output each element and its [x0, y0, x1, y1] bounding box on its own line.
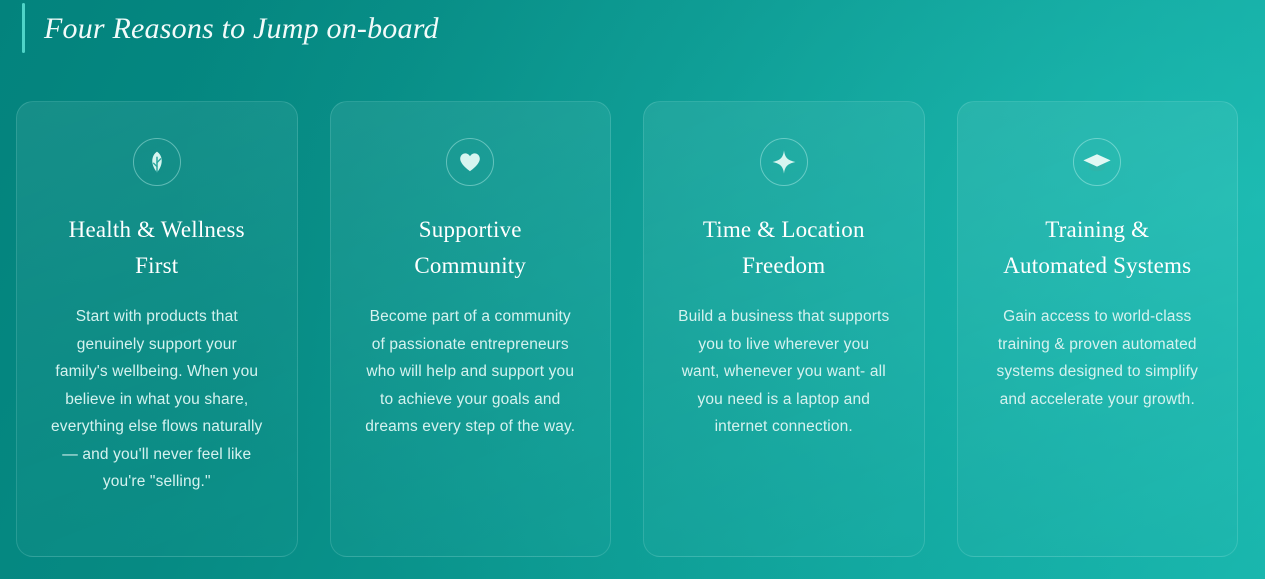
card-body: Build a business that supports you to li… — [678, 303, 890, 441]
leaf-icon — [133, 138, 181, 186]
card-title: Time & Location Freedom — [679, 212, 889, 284]
card-body: Gain access to world-class training & pr… — [991, 303, 1203, 413]
card-body: Start with products that genuinely suppo… — [51, 303, 263, 496]
reason-card-time-location-freedom[interactable]: Time & Location Freedom Build a business… — [643, 101, 925, 557]
card-body: Become part of a community of passionate… — [364, 303, 576, 441]
section-header: Four Reasons to Jump on-board — [22, 2, 439, 54]
card-title: Training & Automated Systems — [992, 212, 1202, 284]
sparkle-icon — [760, 138, 808, 186]
reason-card-health-wellness[interactable]: Health & Wellness First Start with produ… — [16, 101, 298, 557]
reason-cards-row: Health & Wellness First Start with produ… — [16, 101, 1238, 557]
graduation-cap-icon — [1073, 138, 1121, 186]
title-accent-bar — [22, 3, 25, 53]
card-title: Supportive Community — [365, 212, 575, 284]
heart-icon — [446, 138, 494, 186]
reason-card-supportive-community[interactable]: Supportive Community Become part of a co… — [330, 101, 612, 557]
reason-card-training-automated-systems[interactable]: Training & Automated Systems Gain access… — [957, 101, 1239, 557]
card-title: Health & Wellness First — [52, 212, 262, 284]
four-reasons-section: Four Reasons to Jump on-board Health & W… — [0, 0, 1265, 579]
page-title: Four Reasons to Jump on-board — [44, 12, 439, 45]
